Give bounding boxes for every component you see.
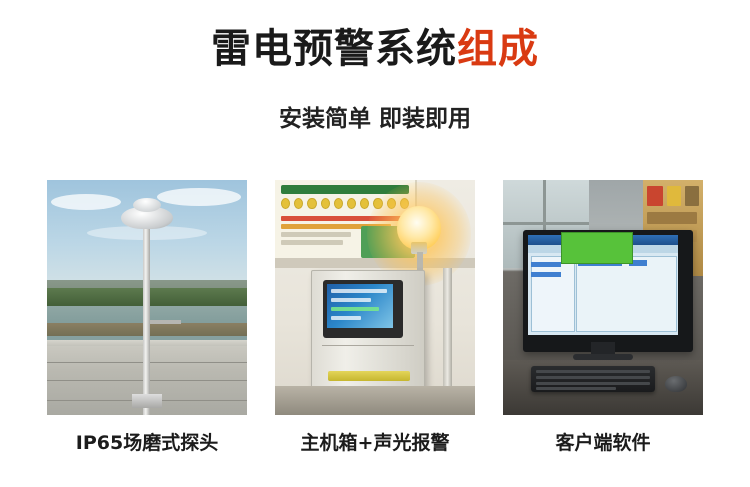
board-dot — [360, 198, 369, 209]
cabinet-photo — [275, 180, 475, 415]
sidebar-entry — [531, 262, 561, 267]
shelf-item — [647, 186, 663, 206]
board-dot — [294, 198, 303, 209]
card-caption: IP65场磨式探头 — [47, 428, 247, 455]
board-row — [281, 232, 351, 237]
cabinet-label-bar — [328, 371, 410, 381]
cloud-shape — [157, 188, 241, 206]
product-card-list: IP65场磨式探头 — [47, 180, 703, 455]
product-card-sensor: IP65场磨式探头 — [47, 180, 247, 455]
sidebar-entry — [531, 272, 561, 277]
software-photo — [503, 180, 703, 415]
pole-base — [132, 394, 162, 408]
monitor-stand-base — [573, 354, 633, 360]
app-main-panel — [576, 256, 677, 332]
cabinet-touch-screen — [327, 284, 393, 328]
poster-page: 雷电预警系统组成 安装简单 即装即用 — [0, 0, 750, 487]
wall-conduit — [443, 268, 452, 388]
card-caption: 主机箱+声光报警 — [275, 428, 475, 455]
mouse — [665, 376, 687, 392]
board-dot — [334, 198, 343, 209]
sensor-pole — [143, 226, 150, 415]
screen-line — [331, 316, 361, 320]
field-mill-cap — [133, 198, 161, 212]
page-title-main: 雷电预警系统 — [211, 26, 457, 72]
board-dot — [281, 198, 290, 209]
cloud-shape — [51, 194, 121, 210]
mounting-arm — [147, 320, 181, 324]
app-sidebar — [531, 256, 575, 332]
window-mullion — [503, 222, 589, 225]
product-card-software: 客户端软件 — [503, 180, 703, 455]
screen-line — [331, 289, 387, 293]
key-row — [536, 382, 650, 385]
floor-area — [275, 386, 475, 415]
page-subtitle: 安装简单 即装即用 — [0, 103, 750, 135]
board-dot — [321, 198, 330, 209]
sensor-photo — [47, 180, 247, 415]
key-row — [536, 387, 616, 390]
key-row — [536, 370, 650, 373]
board-dot — [347, 198, 356, 209]
screen-line — [331, 298, 371, 302]
board-row — [281, 240, 343, 245]
screen-line — [331, 307, 379, 311]
product-card-cabinet: 主机箱+声光报警 — [275, 180, 475, 455]
app-alert-panel — [561, 232, 633, 264]
card-caption: 客户端软件 — [503, 428, 703, 455]
cabinet-door-seam — [322, 345, 414, 346]
key-row — [536, 376, 650, 379]
page-title: 雷电预警系统组成 — [0, 24, 750, 74]
board-dot — [307, 198, 316, 209]
shelf-item — [685, 186, 699, 206]
shelf-item — [647, 212, 697, 224]
page-title-accent: 组成 — [457, 26, 539, 72]
shelf-item — [667, 186, 681, 206]
keyboard — [531, 366, 655, 392]
